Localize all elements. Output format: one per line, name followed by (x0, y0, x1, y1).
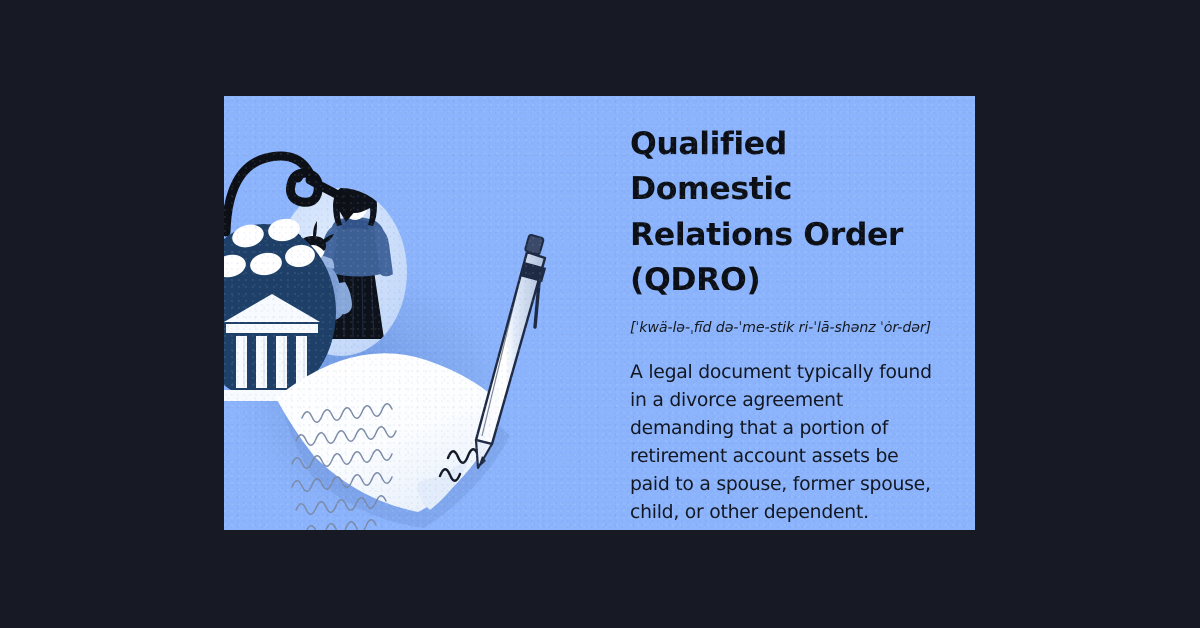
pronunciation: [ˈkwä-lə-ˌfīd də-ˈme-stik ri-ˈlā-shənz ˈ… (630, 320, 941, 336)
term-title: Qualified Domestic Relations Order (QDRO… (630, 122, 941, 303)
text-pane: Qualified Domestic Relations Order (QDRO… (616, 96, 975, 530)
illustration (224, 96, 616, 530)
definition-text: A legal document typically found in a di… (630, 359, 941, 526)
definition-card: Qualified Domestic Relations Order (QDRO… (224, 96, 975, 530)
page-backdrop: Qualified Domestic Relations Order (QDRO… (0, 0, 1200, 628)
